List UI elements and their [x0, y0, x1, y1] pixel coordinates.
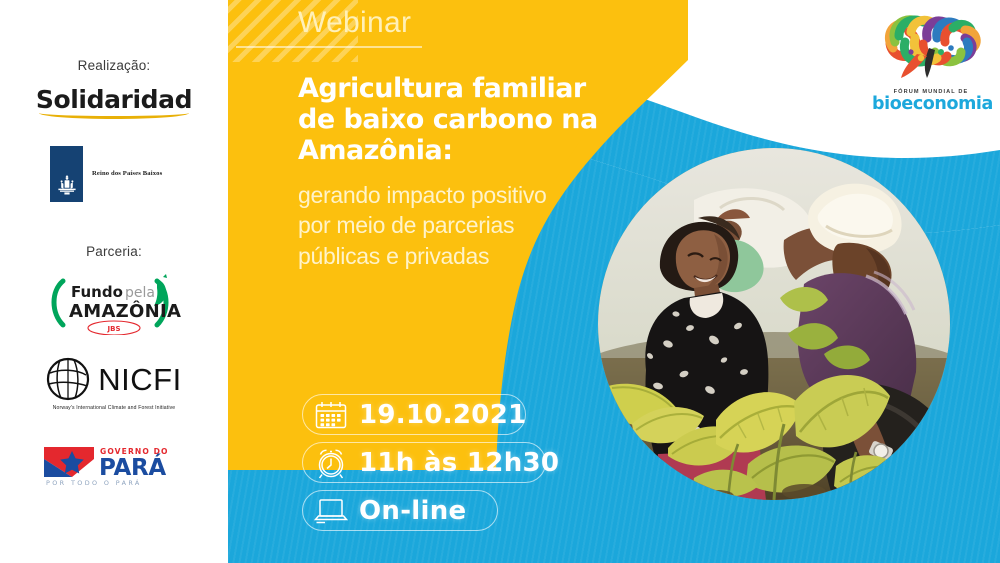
- netherlands-crest-icon: [55, 174, 79, 196]
- subtitle-line-1: gerando impacto positivo: [298, 180, 608, 210]
- eyebrow-underline: [236, 46, 422, 48]
- netherlands-logo: Reino dos Países Baixos: [50, 146, 178, 202]
- parceria-label: Parceria:: [86, 244, 142, 259]
- title-line-2: de baixo carbono na: [298, 105, 618, 136]
- subtitle-line-3: públicas e privadas: [298, 241, 608, 271]
- svg-text:Fundo: Fundo: [71, 283, 123, 301]
- laptop-icon: [311, 495, 351, 526]
- page-title: Agricultura familiar de baixo carbono na…: [298, 74, 618, 166]
- netherlands-label: Reino dos Países Baixos: [83, 146, 178, 202]
- bioeconomia-logo: FÓRUM MUNDIAL DE bioeconomia: [872, 8, 990, 126]
- title-line-1: Agricultura familiar: [298, 74, 618, 105]
- alarm-clock-icon: [311, 447, 351, 478]
- event-mode-badge: On-line: [302, 490, 498, 531]
- sponsor-sidebar: Realização: Solidaridad: [0, 0, 228, 563]
- event-date-badge: 19.10.2021: [302, 394, 526, 435]
- svg-text:pela: pela: [125, 285, 155, 301]
- netherlands-blue-bar: [50, 146, 83, 202]
- event-time-badge: 11h às 12h30: [302, 442, 546, 483]
- realizacao-label: Realização:: [78, 58, 151, 73]
- svg-text:POR TODO O PARÁ: POR TODO O PARÁ: [46, 478, 142, 487]
- nicfi-tagline: Norway's International Climate and Fores…: [53, 405, 176, 411]
- event-date-label: 19.10.2021: [359, 400, 526, 430]
- eyebrow-webinar: Webinar: [298, 6, 411, 40]
- svg-text:JBS: JBS: [107, 325, 121, 333]
- event-details: 19.10.2021 11h às 12h30: [302, 394, 546, 531]
- bioeconomia-mark-icon: [879, 8, 983, 82]
- event-mode-label: On-line: [359, 496, 466, 526]
- event-time-label: 11h às 12h30: [359, 448, 559, 478]
- page-subtitle: gerando impacto positivo por meio de par…: [298, 180, 608, 271]
- fundo-amazonia-logo: Fundo pela AMAZÔNIA JBS: [45, 273, 183, 335]
- nicfi-wordmark: NICFI: [98, 364, 181, 395]
- title-line-3: Amazônia:: [298, 136, 618, 167]
- nicfi-globe-icon: [46, 357, 90, 401]
- bioeconomia-wordmark: bioeconomia: [872, 96, 990, 114]
- solidaridad-swoosh: [39, 107, 189, 119]
- svg-text:PARÁ: PARÁ: [99, 453, 166, 481]
- calendar-icon: [311, 399, 351, 430]
- governo-para-logo: GOVERNO DO PARÁ POR TODO O PARÁ: [38, 437, 190, 487]
- svg-text:AMAZÔNIA: AMAZÔNIA: [69, 300, 181, 322]
- solidaridad-logo: Solidaridad: [36, 85, 192, 114]
- webinar-poster: Realização: Solidaridad: [0, 0, 1000, 563]
- subtitle-line-2: por meio de parcerias: [298, 210, 608, 240]
- nicfi-logo: NICFI Norway's International Climate and…: [39, 357, 189, 411]
- photo-circle: [598, 148, 950, 500]
